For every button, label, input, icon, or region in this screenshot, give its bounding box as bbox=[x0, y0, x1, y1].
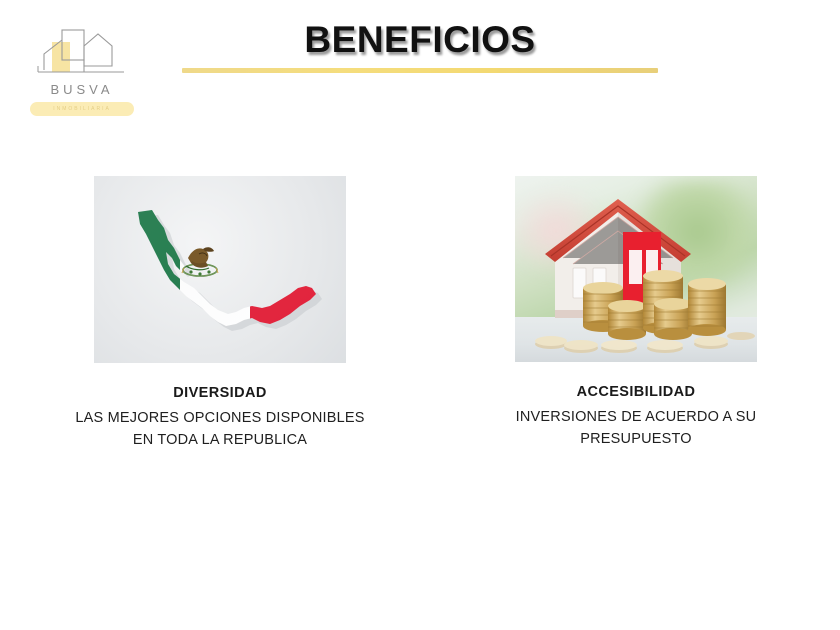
mexico-map-flag-image bbox=[94, 176, 346, 363]
benefit-body-line: PRESUPUESTO bbox=[450, 429, 822, 451]
title-underline-rule bbox=[182, 68, 658, 73]
benefit-body: INVERSIONES DE ACUERDO A SU PRESUPUESTO bbox=[450, 407, 822, 451]
logo-tagline-banner: Inmobiliaria bbox=[30, 102, 134, 116]
house-and-coins-image bbox=[515, 176, 757, 362]
mexico-map-shape bbox=[94, 176, 346, 363]
benefit-body-line: INVERSIONES DE ACUERDO A SU bbox=[450, 407, 822, 429]
slide-beneficios: BUSVA Inmobiliaria BENEFICIOS bbox=[0, 0, 840, 630]
benefit-heading: DIVERSIDAD bbox=[22, 385, 418, 401]
page-title: BENEFICIOS bbox=[0, 19, 840, 61]
logo-tagline: Inmobiliaria bbox=[53, 106, 111, 112]
benefit-body-line: EN TODA LA REPUBLICA bbox=[22, 430, 418, 452]
house-and-coins-illustration bbox=[515, 176, 757, 362]
benefit-heading: ACCESIBILIDAD bbox=[450, 384, 822, 400]
logo-name: BUSVA bbox=[24, 82, 140, 97]
benefit-column-accesibilidad: ACCESIBILIDAD INVERSIONES DE ACUERDO A S… bbox=[450, 176, 822, 451]
benefit-body-line: LAS MEJORES OPCIONES DISPONIBLES bbox=[22, 408, 418, 430]
benefit-column-diversidad: DIVERSIDAD LAS MEJORES OPCIONES DISPONIB… bbox=[22, 176, 418, 452]
benefit-body: LAS MEJORES OPCIONES DISPONIBLES EN TODA… bbox=[22, 408, 418, 452]
